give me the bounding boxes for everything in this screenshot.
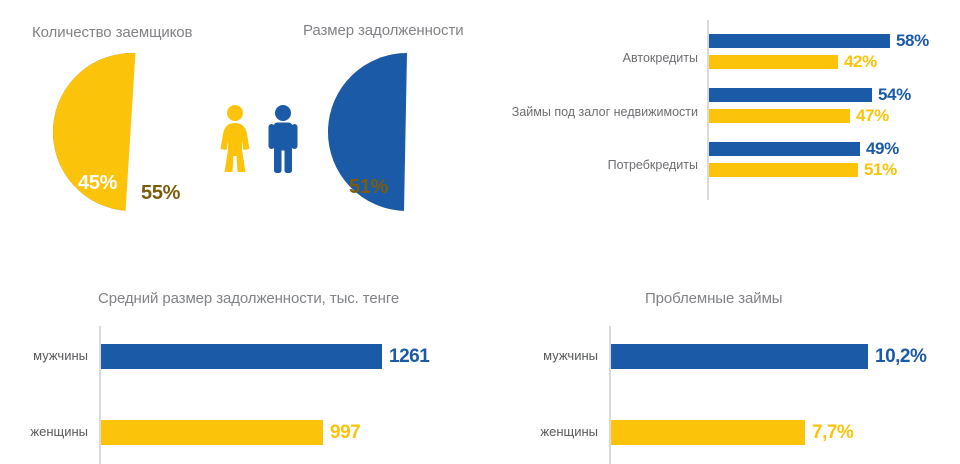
- avg-debt-category-label-1: женщины: [0, 425, 88, 438]
- pie-chart-borrowers-title: Количество заемщиков: [32, 24, 192, 41]
- pie-divider-top: [407, 53, 409, 132]
- female-figure-icon: [218, 104, 252, 174]
- loan-types-category-label-0: Автокредиты: [460, 52, 698, 65]
- pie-chart-borrowers-svg: [52, 52, 212, 212]
- problem-loans-bar-women: [611, 420, 805, 445]
- loan-types-value-women-2: 51%: [864, 161, 897, 178]
- avg-debt-bar-women: [101, 420, 323, 445]
- male-figure-icon: [266, 104, 300, 174]
- pie-slice-label-45: 45%: [78, 172, 117, 195]
- loan-types-category-label-1: Займы под залог недвижимости: [460, 106, 698, 119]
- pie-slice-label-55: 55%: [141, 182, 180, 205]
- loan-types-value-men-2: 49%: [866, 140, 899, 157]
- pie-chart-debt-size-title: Размер задолженности: [303, 22, 464, 39]
- loan-types-value-men-0: 58%: [896, 32, 929, 49]
- loan-types-bar-men-2: [709, 142, 860, 156]
- avg-debt-bar-men: [101, 344, 382, 369]
- loan-types-bar-women-2: [709, 163, 858, 177]
- loan-types-bar-women-0: [709, 55, 838, 69]
- pie-slice-label-51: 51%: [349, 176, 388, 199]
- pie-slice-label-49: 49%: [419, 170, 458, 193]
- problem-loans-value-women: 7,7%: [812, 423, 853, 442]
- problem-loans-category-label-1: женщины: [510, 425, 598, 438]
- pie-divider-bottom: [406, 132, 408, 211]
- gender-icon-group: [218, 104, 300, 174]
- avg-debt-value-women: 997: [330, 423, 360, 442]
- problem-loans-value-men: 10,2%: [875, 347, 926, 366]
- loan-types-value-men-1: 54%: [878, 86, 911, 103]
- pie-chart-borrowers: 45% 55%: [52, 52, 212, 212]
- problem-loans-bar-men: [611, 344, 868, 369]
- loan-types-category-label-2: Потребкредиты: [460, 159, 698, 172]
- loan-types-bar-men-1: [709, 88, 872, 102]
- avg-debt-value-men: 1261: [389, 347, 429, 366]
- pie-chart-debt-size: 51% 49%: [327, 52, 487, 212]
- loan-types-value-women-0: 42%: [844, 53, 877, 70]
- loan-types-bar-women-1: [709, 109, 850, 123]
- loan-types-bar-men-0: [709, 34, 890, 48]
- loan-types-value-women-1: 47%: [856, 107, 889, 124]
- avg-debt-category-label-0: мужчины: [0, 349, 88, 362]
- avg-debt-chart-title: Средний размер задолженности, тыс. тенге: [98, 290, 399, 307]
- problem-loans-category-label-0: мужчины: [510, 349, 598, 362]
- problem-loans-chart-title: Проблемные займы: [645, 290, 782, 307]
- infographic-canvas: Количество заемщиков 45% 55% Размер задо…: [0, 0, 960, 464]
